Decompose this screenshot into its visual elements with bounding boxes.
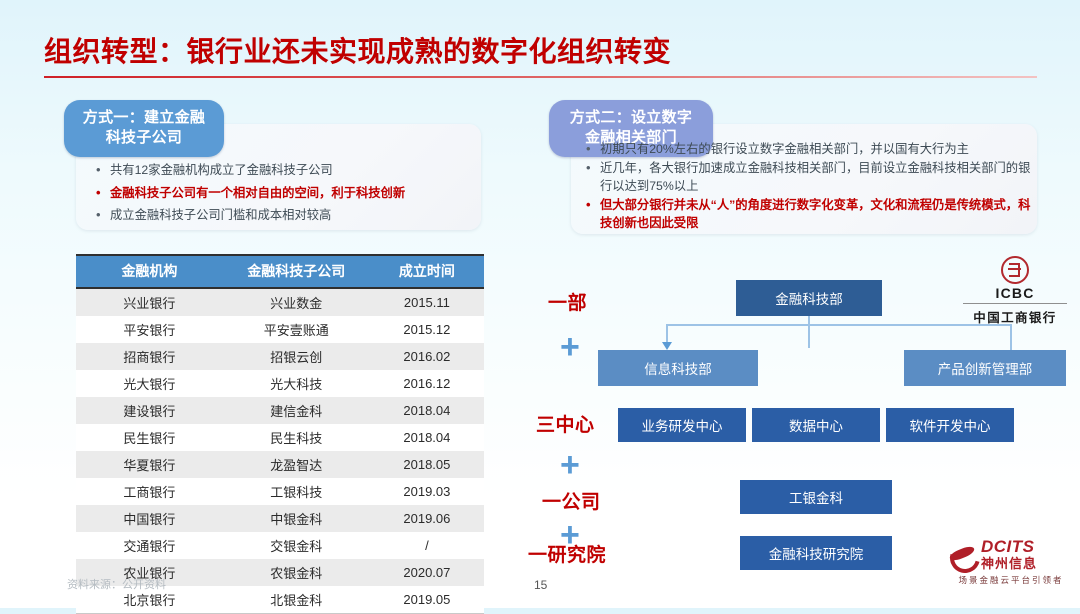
table-row: 中国银行中银金科2019.06 [76,505,484,532]
table-row: 光大银行光大科技2016.12 [76,370,484,397]
node-icbc-fintech-co: 工银金科 [740,480,892,514]
dcits-swoosh-icon [948,540,976,568]
cell-date: 2019.06 [370,505,484,532]
node-business-rd-center: 业务研发中心 [618,408,746,442]
list-item: 初期只有20%左右的银行设立数字金融相关部门，并以国有大行为主 [583,140,1035,158]
left-badge-line2: 科技子公司 [80,128,208,148]
table-row: 交通银行交银金科/ [76,532,484,559]
node-fintech-dept: 金融科技部 [736,280,882,316]
connector-horizontal [666,324,1011,326]
cell-subsidiary: 交银金科 [223,532,370,559]
left-method-badge: 方式一：建立金融 科技子公司 [64,100,224,157]
cell-date: 2019.05 [370,586,484,614]
table-row: 民生银行民生科技2018.04 [76,424,484,451]
cell-institution: 华夏银行 [76,451,223,478]
cell-institution: 兴业银行 [76,288,223,316]
cell-institution: 交通银行 [76,532,223,559]
org-label-three-centers: 三中心 [536,410,595,437]
org-label-one-institute: 一研究院 [528,540,606,567]
cell-date: 2016.02 [370,343,484,370]
node-data-center: 数据中心 [752,408,880,442]
cell-date: 2018.04 [370,397,484,424]
slide-canvas: 组织转型：银行业还未实现成熟的数字化组织转变 方式一：建立金融 科技子公司 共有… [0,0,1080,608]
plus-icon: + [560,330,580,364]
cell-subsidiary: 兴业数金 [223,288,370,316]
connector-leg-right [1010,324,1012,352]
list-item: 近几年，各大银行加速成立金融科技相关部门，目前设立金融科技相关部门的银行以达到7… [583,159,1035,195]
page-title: 组织转型：银行业还未实现成熟的数字化组织转变 [44,30,671,70]
table-row: 平安银行平安壹账通2015.12 [76,316,484,343]
node-it-dept: 信息科技部 [598,350,758,386]
right-bullet-list: 初期只有20%左右的银行设立数字金融相关部门，并以国有大行为主 近几年，各大银行… [583,140,1035,233]
cell-institution: 平安银行 [76,316,223,343]
list-item: 共有12家金融机构成立了金融科技子公司 [93,161,473,180]
cell-institution: 中国银行 [76,505,223,532]
title-divider [44,76,1037,78]
cell-institution: 民生银行 [76,424,223,451]
cell-subsidiary: 建信金科 [223,397,370,424]
table-header-cell: 金融机构 [76,255,223,288]
dcits-logo-english: DCITS [981,538,1037,555]
cell-subsidiary: 招银云创 [223,343,370,370]
icbc-emblem-icon [1001,256,1029,284]
cell-date: 2018.04 [370,424,484,451]
table-row: 建设银行建信金科2018.04 [76,397,484,424]
dcits-logo: DCITS 神州信息 场景金融云平台引领者 [948,538,1074,586]
connector-vertical [808,316,810,348]
cell-subsidiary: 光大科技 [223,370,370,397]
cell-subsidiary: 平安壹账通 [223,316,370,343]
icbc-logo-chinese: 中国工商银行 [963,307,1067,326]
org-label-one-company: 一公司 [542,487,601,514]
table-row: 工商银行工银科技2019.03 [76,478,484,505]
table-row: 华夏银行龙盈智达2018.05 [76,451,484,478]
cell-subsidiary: 农银金科 [223,559,370,586]
table-row: 招商银行招银云创2016.02 [76,343,484,370]
cell-date: / [370,532,484,559]
arrow-down-icon [662,342,672,350]
cell-subsidiary: 龙盈智达 [223,451,370,478]
table-header-cell: 金融科技子公司 [223,255,370,288]
cell-subsidiary: 工银科技 [223,478,370,505]
plus-icon: + [560,448,580,482]
list-item: 但大部分银行并未从“人”的角度进行数字化变革，文化和流程仍是传统模式，科技创新也… [583,196,1035,232]
table-header-cell: 成立时间 [370,255,484,288]
cell-date: 2018.05 [370,451,484,478]
org-label-one-dept: 一部 [548,288,587,315]
dcits-tagline: 场景金融云平台引领者 [948,574,1074,586]
node-software-dev-center: 软件开发中心 [886,408,1014,442]
cell-date: 2015.11 [370,288,484,316]
cell-subsidiary: 北银金科 [223,586,370,614]
icbc-logo: ICBC 中国工商银行 [963,256,1067,326]
cell-date: 2016.12 [370,370,484,397]
dcits-logo-chinese: 神州信息 [981,557,1037,570]
list-item: 成立金融科技子公司门槛和成本相对较高 [93,206,473,225]
cell-subsidiary: 中银金科 [223,505,370,532]
table-header-row: 金融机构 金融科技子公司 成立时间 [76,255,484,288]
icbc-logo-english: ICBC [963,285,1067,304]
source-note: 资料来源：公开资料 [67,576,166,592]
left-bullet-list: 共有12家金融机构成立了金融科技子公司 金融科技子公司有一个相对自由的空间，利于… [93,161,473,229]
table-row: 兴业银行兴业数金2015.11 [76,288,484,316]
cell-institution: 光大银行 [76,370,223,397]
cell-date: 2019.03 [370,478,484,505]
cell-institution: 招商银行 [76,343,223,370]
cell-subsidiary: 民生科技 [223,424,370,451]
cell-date: 2020.07 [370,559,484,586]
list-item: 金融科技子公司有一个相对自由的空间，利于科技创新 [93,184,473,203]
fintech-subsidiary-table: 金融机构 金融科技子公司 成立时间 兴业银行兴业数金2015.11 平安银行平安… [76,254,484,614]
right-badge-line1: 方式二：设立数字 [570,109,692,126]
node-fintech-institute: 金融科技研究院 [740,536,892,570]
left-badge-line1: 方式一：建立金融 [83,109,205,126]
node-product-innovation-dept: 产品创新管理部 [904,350,1066,386]
cell-institution: 工商银行 [76,478,223,505]
cell-date: 2015.12 [370,316,484,343]
cell-institution: 建设银行 [76,397,223,424]
